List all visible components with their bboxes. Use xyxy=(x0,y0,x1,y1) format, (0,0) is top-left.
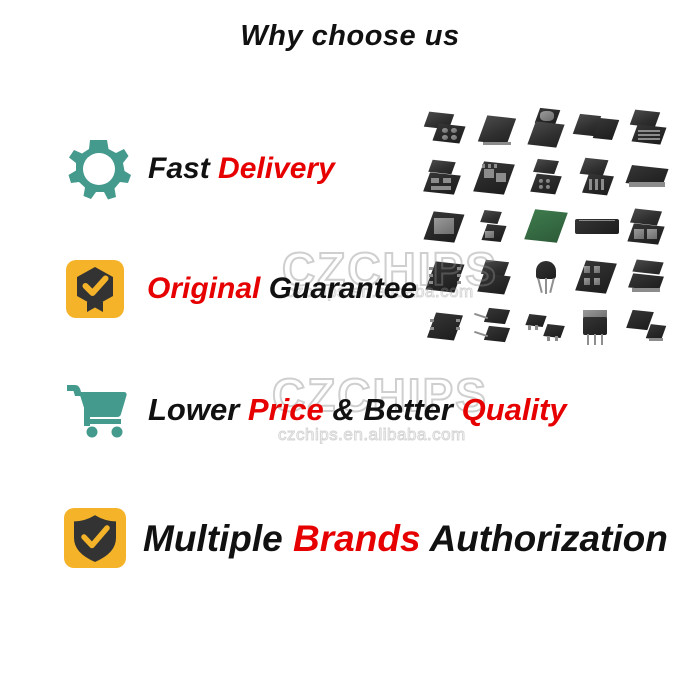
feature-text-highlight: Original xyxy=(147,272,260,305)
chip-item xyxy=(422,305,472,355)
chip-item xyxy=(624,105,674,155)
chip-item xyxy=(422,205,472,255)
feature-label: Fast Delivery xyxy=(148,154,335,184)
chip-item xyxy=(573,155,623,205)
chip-item xyxy=(422,155,472,205)
feature-row-multiple-brands: Multiple Brands Authorization xyxy=(64,506,668,570)
gear-icon xyxy=(66,138,132,200)
chip-item xyxy=(472,105,522,155)
feature-text-highlight: Delivery xyxy=(218,152,335,185)
chip-item xyxy=(624,305,674,355)
chip-item xyxy=(573,305,623,355)
feature-text-highlight: Quality xyxy=(462,392,567,427)
chip-item xyxy=(472,255,522,305)
quality-badge-icon xyxy=(66,260,124,318)
feature-text-part: Multiple xyxy=(143,518,283,559)
chip-item xyxy=(523,105,573,155)
chip-item xyxy=(422,105,472,155)
chips-collage-image xyxy=(422,105,674,355)
chip-item xyxy=(523,305,573,355)
feature-text-part: Lower xyxy=(148,392,239,427)
shopping-cart-icon xyxy=(64,380,130,438)
feature-text-part: Authorization xyxy=(421,518,668,559)
feature-text-part: Guarantee xyxy=(269,272,417,305)
chip-item xyxy=(573,105,623,155)
feature-text-highlight: Brands xyxy=(293,518,420,559)
feature-text-part: Fast xyxy=(148,152,210,185)
chip-item xyxy=(573,255,623,305)
chip-item xyxy=(624,205,674,255)
chip-item xyxy=(472,155,522,205)
feature-label: Lower Price & Better Quality xyxy=(148,394,567,425)
chip-item xyxy=(624,155,674,205)
chip-item xyxy=(523,155,573,205)
feature-row-original-guarantee: Original Guarantee xyxy=(66,260,417,318)
feature-text-highlight: Price xyxy=(248,392,324,427)
chip-item xyxy=(472,305,522,355)
chip-item xyxy=(624,255,674,305)
promo-banner: Why choose us xyxy=(0,0,700,700)
chip-item xyxy=(573,205,623,255)
chip-item xyxy=(523,255,573,305)
feature-row-lower-price: Lower Price & Better Quality xyxy=(64,380,567,438)
chip-item xyxy=(523,205,573,255)
chip-item xyxy=(422,255,472,305)
shield-check-icon xyxy=(64,506,126,570)
feature-label: Multiple Brands Authorization xyxy=(143,520,668,557)
feature-row-fast-delivery: Fast Delivery xyxy=(66,138,335,200)
page-title: Why choose us xyxy=(0,20,700,53)
chip-item xyxy=(472,205,522,255)
feature-label: Original Guarantee xyxy=(147,274,417,304)
feature-text-part: & Better xyxy=(324,392,462,427)
